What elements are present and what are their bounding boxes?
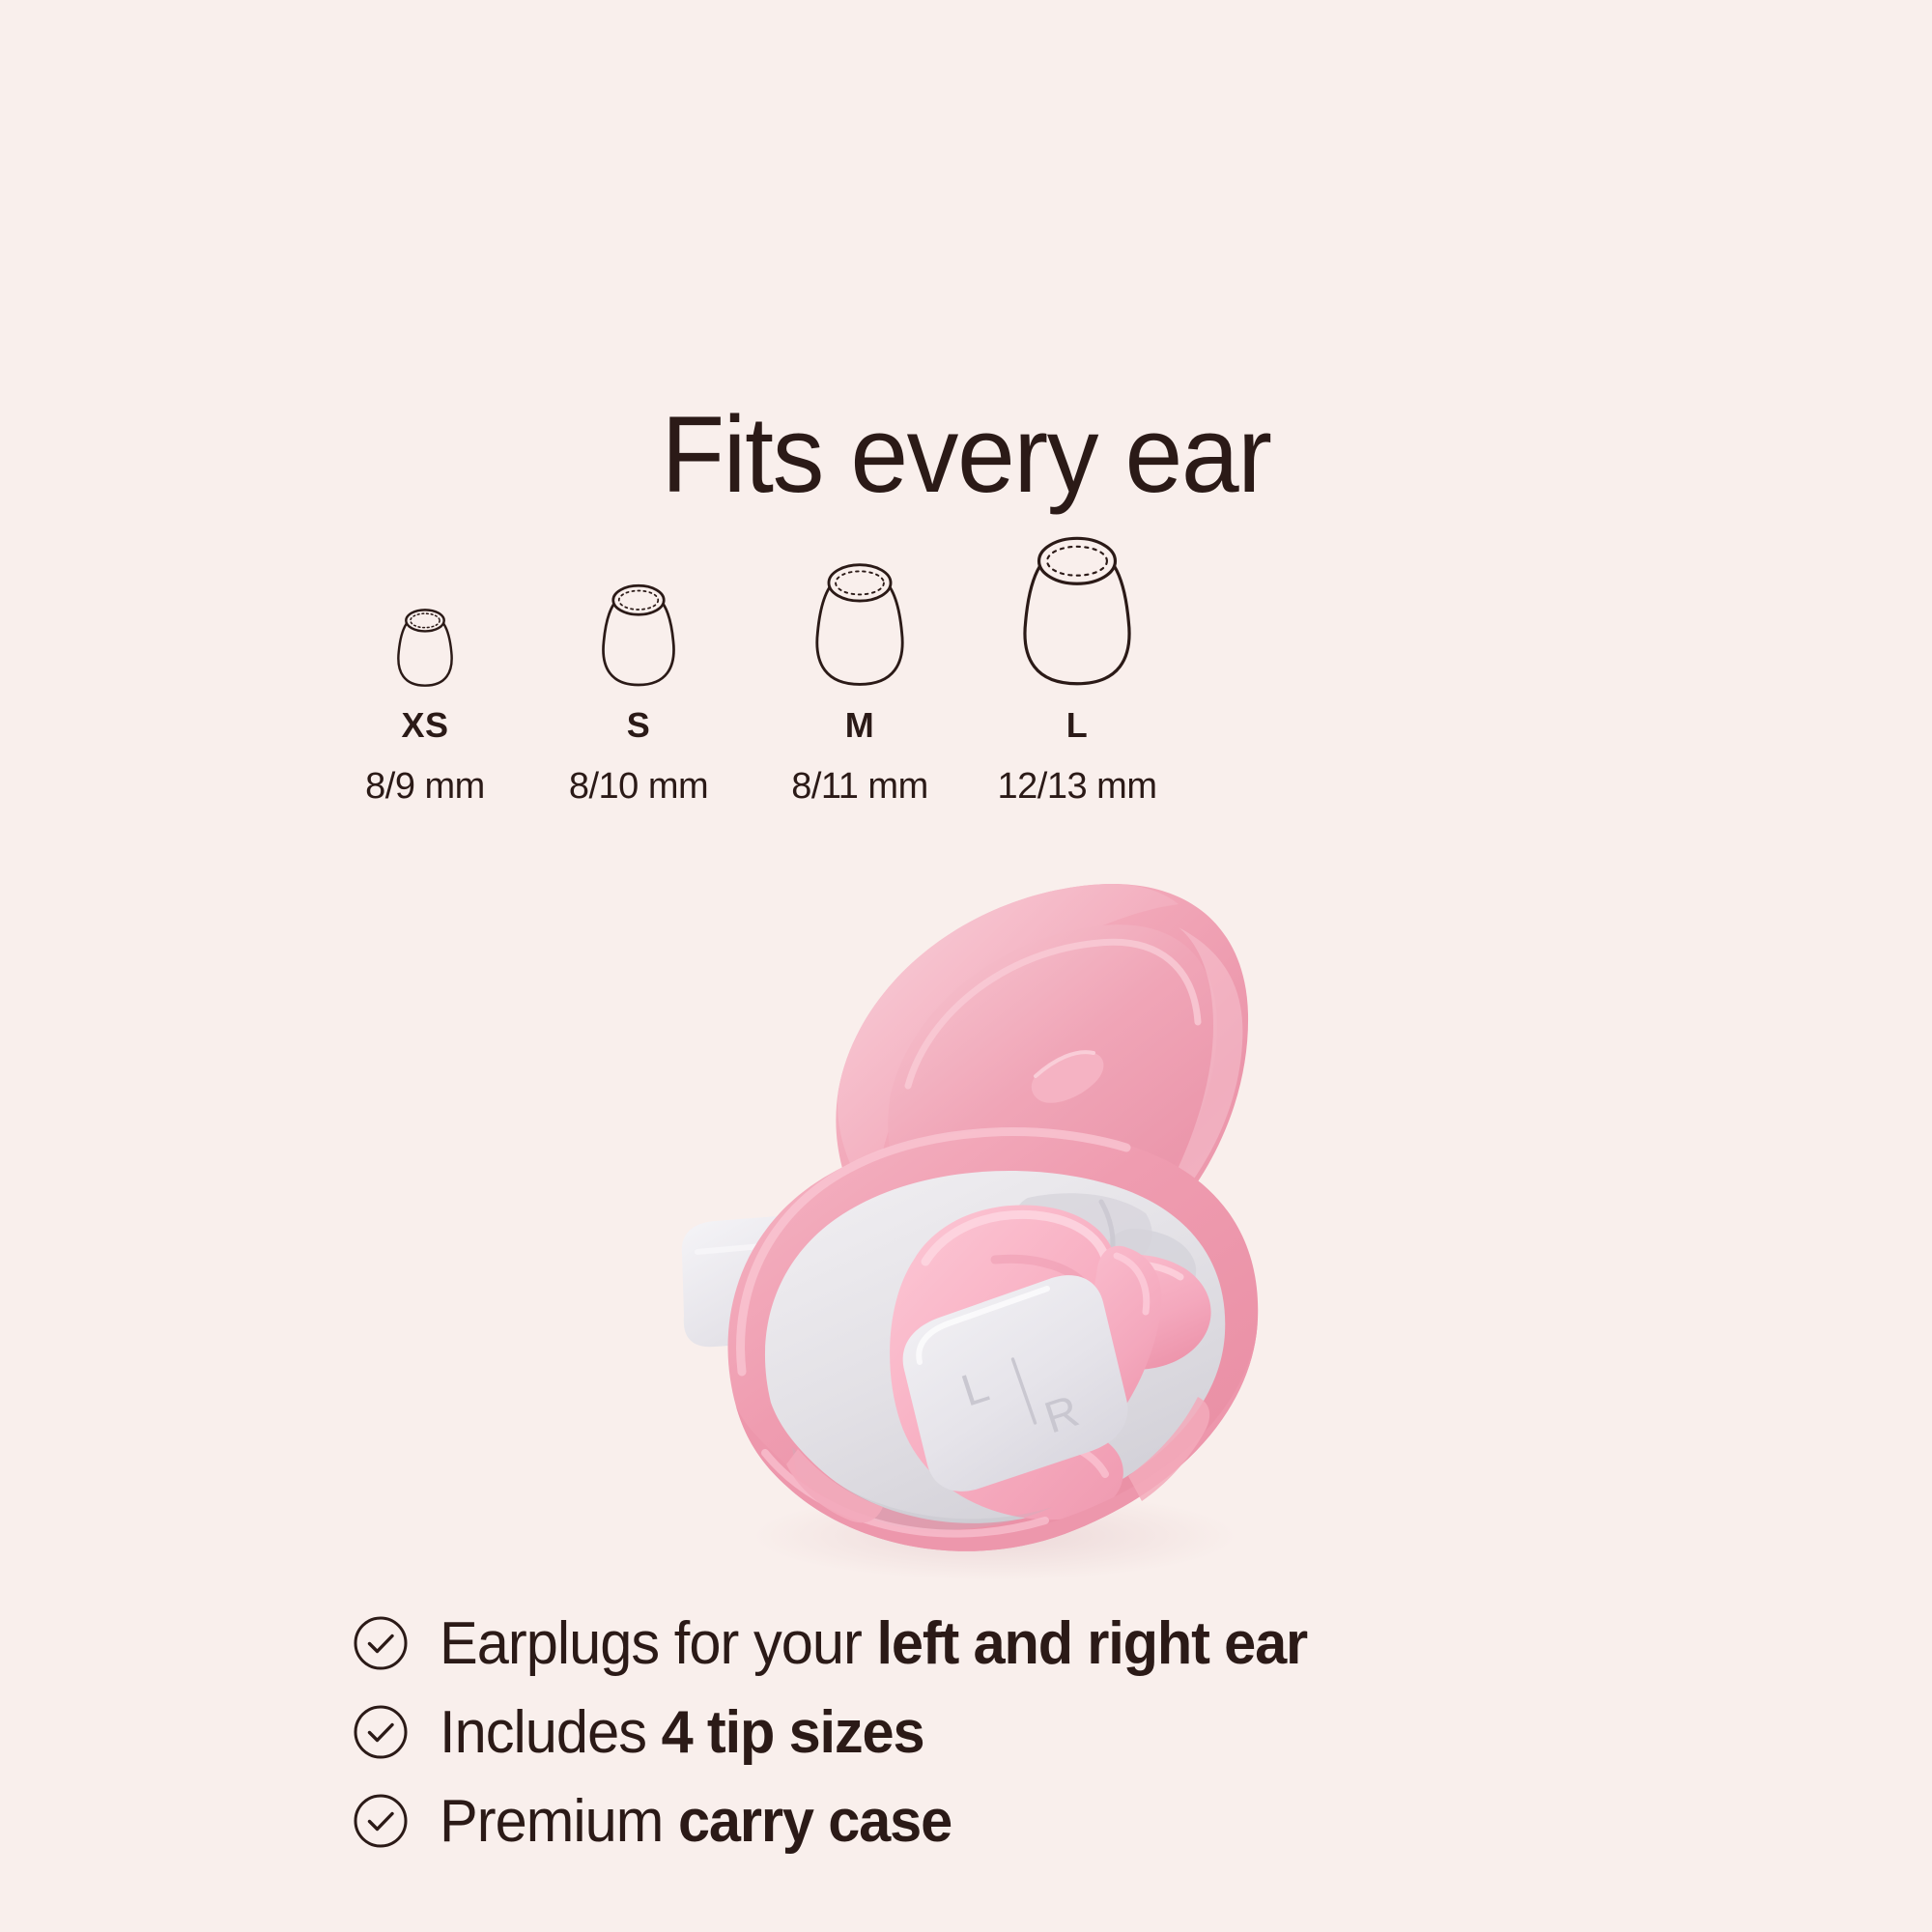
page-title: Fits every ear [39,398,1893,512]
check-circle-icon [353,1615,409,1671]
feature-text: Earplugs for your left and right ear [440,1609,1307,1678]
tip-size-value: 8/11 mm [753,766,966,808]
feature-item-carry-case: Premium carry case [353,1776,1608,1865]
product-feature-page: Fits every ear XS 8/9 mm [0,0,1932,1932]
eartip-icon [753,543,966,688]
tip-size-row: XS 8/9 mm S 8/10 mm [319,541,1613,831]
tip-size-value: 12/13 mm [971,766,1183,808]
feature-text: Includes 4 tip sizes [440,1698,923,1767]
tip-size-value: 8/9 mm [319,766,531,808]
check-circle-icon [353,1793,409,1849]
feature-item-tip-sizes: Includes 4 tip sizes [353,1688,1608,1776]
tip-label: M [753,705,966,746]
check-circle-icon [353,1704,409,1760]
tip-label: S [532,705,745,746]
feature-text-plain: Premium [440,1788,678,1855]
eartip-icon [319,543,531,688]
tip-size-value: 8/10 mm [532,766,745,808]
feature-text-plain: Earplugs for your [440,1610,876,1677]
tip-label: XS [319,705,531,746]
feature-text-bold: left and right ear [876,1610,1307,1677]
tip-label: L [971,705,1183,746]
feature-text: Premium carry case [440,1787,952,1856]
feature-list: Earplugs for your left and right ear Inc… [353,1599,1608,1865]
feature-item-earplugs: Earplugs for your left and right ear [353,1599,1608,1688]
feature-text-plain: Includes [440,1699,662,1766]
feature-text-bold: carry case [678,1788,952,1855]
product-image-earplug-carry-case: L R [676,869,1294,1584]
feature-text-bold: 4 tip sizes [662,1699,924,1766]
case-base: L R [727,1130,1258,1551]
eartip-icon [532,543,745,688]
eartip-icon [971,543,1183,688]
